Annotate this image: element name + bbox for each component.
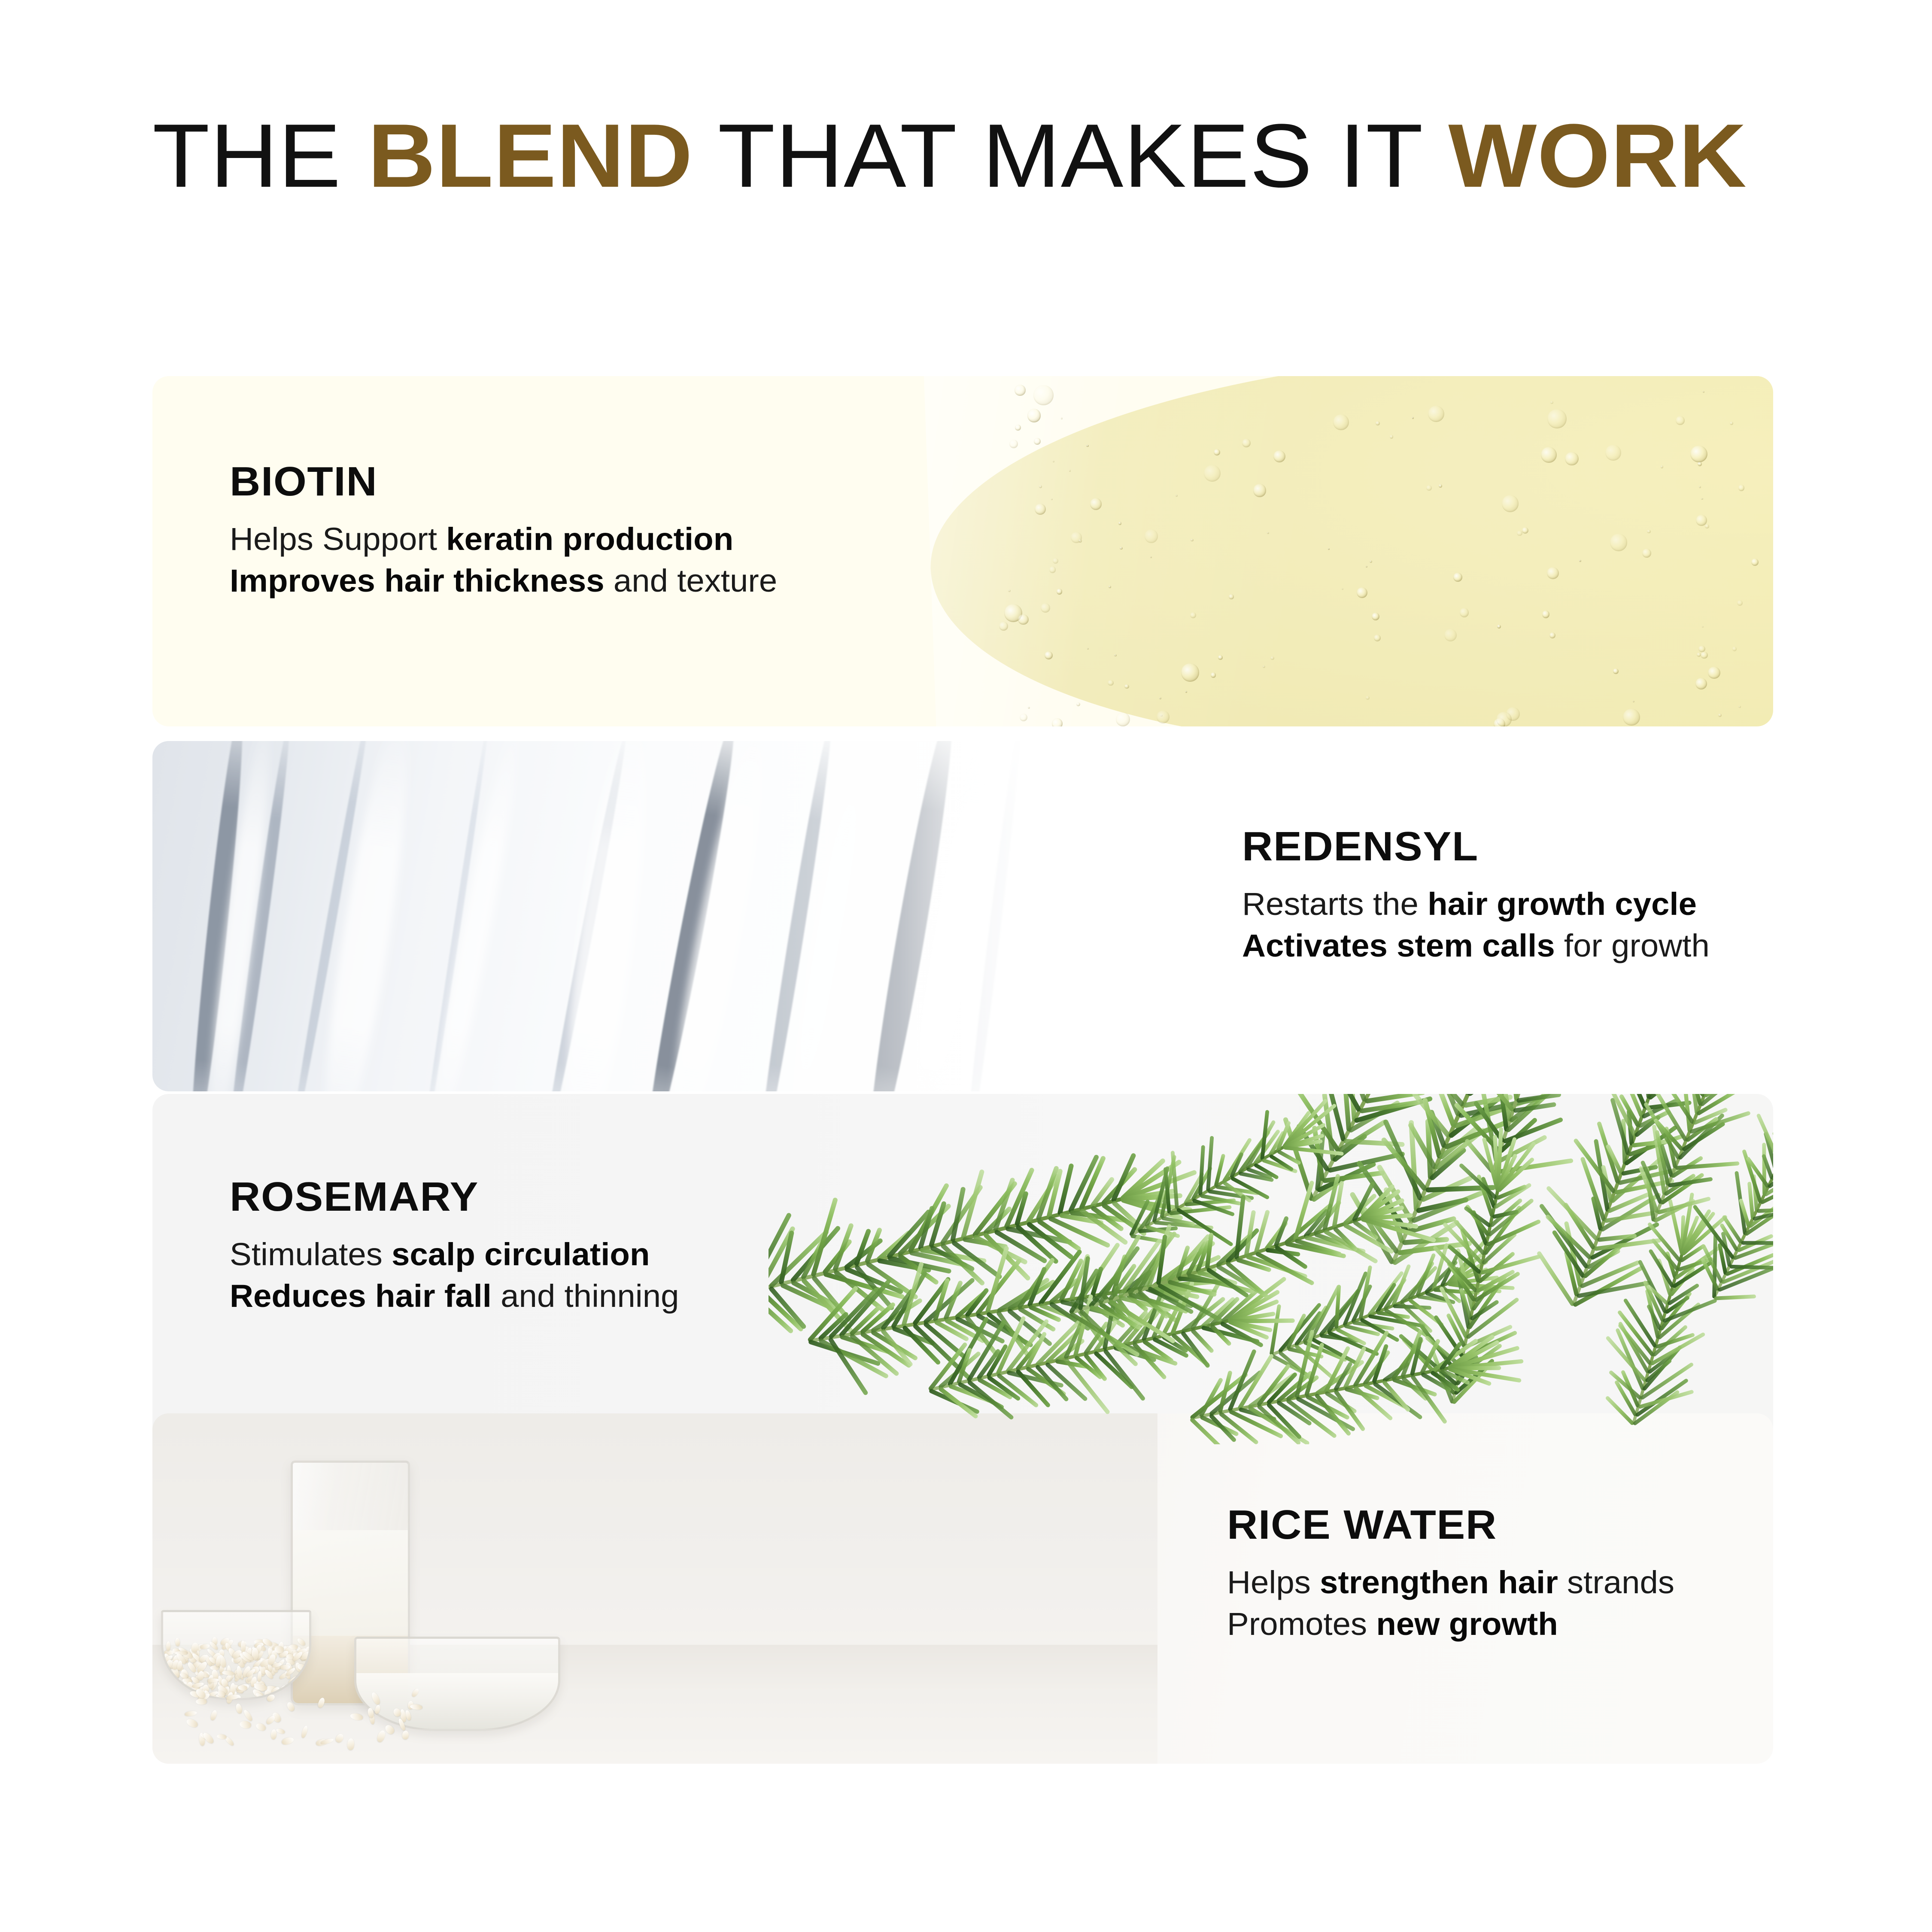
- biotin-line1-bold: keratin production: [446, 521, 733, 557]
- page-title: THE BLEND THAT MAKES IT WORK: [152, 111, 1784, 240]
- ingredient-card-rice-water[interactable]: RICE WATER Helps strengthen hair strands…: [152, 1413, 1773, 1764]
- redensyl-title: REDENSYL: [1242, 825, 1710, 869]
- rice-text-block: RICE WATER Helps strengthen hair strands…: [1227, 1504, 1662, 1645]
- redensyl-line2-plain: for growth: [1555, 928, 1710, 963]
- rosemary-line1-plain-a: Stimulates: [230, 1236, 392, 1272]
- biotin-benefit-line-2: Improves hair thickness and texture: [230, 560, 777, 602]
- ingredient-card-rosemary[interactable]: ROSEMARY Stimulates scalp circulation Re…: [152, 1094, 1773, 1444]
- rice-water-title: RICE WATER: [1227, 1504, 1674, 1547]
- rosemary-card-body: ROSEMARY Stimulates scalp circulation Re…: [152, 1094, 1773, 1444]
- rice-card-body: RICE WATER Helps strengthen hair strands…: [152, 1413, 1773, 1764]
- rosemary-line1-bold: scalp circulation: [392, 1236, 650, 1272]
- rosemary-benefit-line-2: Reduces hair fall and thinning: [230, 1275, 679, 1317]
- biotin-line2-bold: Improves hair thickness: [230, 563, 605, 598]
- page-title-text: THE BLEND THAT MAKES IT WORK: [152, 111, 1849, 201]
- rice-benefit-line-2: Promotes new growth: [1227, 1603, 1674, 1645]
- title-part-the: THE: [152, 105, 368, 206]
- redensyl-line1-plain-a: Restarts the: [1242, 886, 1428, 922]
- rice-line2-plain-a: Promotes: [1227, 1606, 1376, 1642]
- redensyl-image-fade: [898, 741, 1255, 1091]
- rosemary-line2-bold: Reduces hair fall: [230, 1278, 492, 1314]
- ingredient-card-biotin[interactable]: BIOTIN Helps Support keratin production …: [152, 376, 1773, 726]
- rice-line1-bold: strengthen hair: [1320, 1564, 1558, 1600]
- rice-water-dish-liquid: [356, 1673, 558, 1729]
- redensyl-line1-bold: hair growth cycle: [1428, 886, 1697, 922]
- title-part-blend: BLEND: [368, 105, 693, 206]
- redensyl-benefit-line-2: Activates stem calls for growth: [1242, 925, 1710, 967]
- biotin-benefit-line-1: Helps Support keratin production: [230, 518, 777, 560]
- redensyl-card-body: REDENSYL Restarts the hair growth cycle …: [152, 741, 1773, 1091]
- title-part-work: WORK: [1448, 105, 1747, 206]
- rosemary-title: ROSEMARY: [230, 1176, 679, 1219]
- biotin-text-block: BIOTIN Helps Support keratin production …: [230, 460, 761, 602]
- biotin-title: BIOTIN: [230, 460, 777, 504]
- biotin-line1-plain-a: Helps Support: [230, 521, 446, 557]
- rice-benefit-line-1: Helps strengthen hair strands: [1227, 1561, 1674, 1604]
- rice-water-dish: [354, 1637, 560, 1731]
- rosemary-herb-image: [769, 1094, 1774, 1444]
- dry-rice-bowl: [161, 1610, 311, 1700]
- biotin-line2-plain: and texture: [605, 563, 778, 598]
- redensyl-text-block: REDENSYL Restarts the hair growth cycle …: [1242, 825, 1696, 967]
- dry-rice-fill: [163, 1636, 309, 1698]
- rosemary-benefit-line-1: Stimulates scalp circulation: [230, 1233, 679, 1276]
- rosemary-line2-plain: and thinning: [492, 1278, 679, 1314]
- rice-line1-plain-b: strands: [1558, 1564, 1674, 1600]
- redensyl-benefit-line-1: Restarts the hair growth cycle: [1242, 883, 1710, 925]
- biotin-card-body: BIOTIN Helps Support keratin production …: [152, 376, 1773, 726]
- title-part-that-makes-it: THAT MAKES IT: [693, 105, 1448, 206]
- rice-water-image: [152, 1413, 1157, 1764]
- rice-line1-plain-a: Helps: [1227, 1564, 1320, 1600]
- rice-line2-bold: new growth: [1376, 1606, 1558, 1642]
- redensyl-line2-bold: Activates stem calls: [1242, 928, 1555, 963]
- rosemary-text-block: ROSEMARY Stimulates scalp circulation Re…: [230, 1176, 666, 1317]
- ingredient-card-redensyl[interactable]: REDENSYL Restarts the hair growth cycle …: [152, 741, 1773, 1091]
